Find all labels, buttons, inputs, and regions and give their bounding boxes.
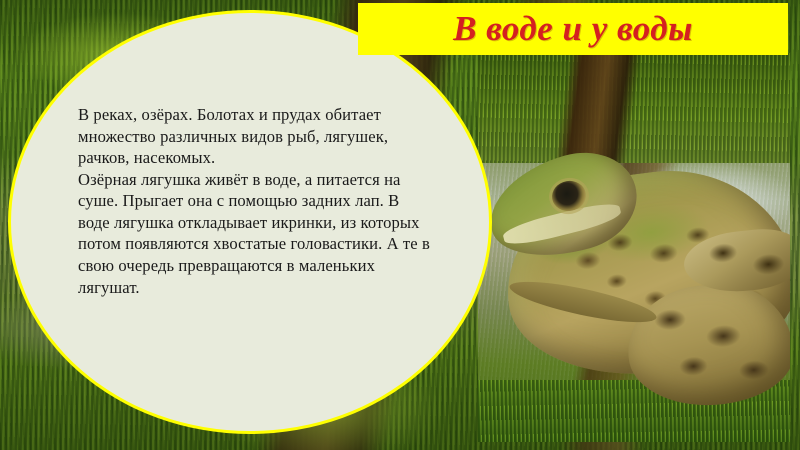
paragraph-2: Озёрная лягушка живёт в воде, а питается… <box>78 169 434 298</box>
paragraph-1: В реках, озёрах. Болотах и прудах обитае… <box>78 104 434 169</box>
slide-title: В воде и у воды <box>453 9 693 49</box>
frog-photo <box>478 53 790 442</box>
callout-body-text: В реках, озёрах. Болотах и прудах обитае… <box>78 104 434 298</box>
slide-canvas: В реках, озёрах. Болотах и прудах обитае… <box>0 0 800 450</box>
title-banner: В воде и у воды <box>358 3 788 55</box>
frog-photo-top-grass <box>478 53 790 163</box>
